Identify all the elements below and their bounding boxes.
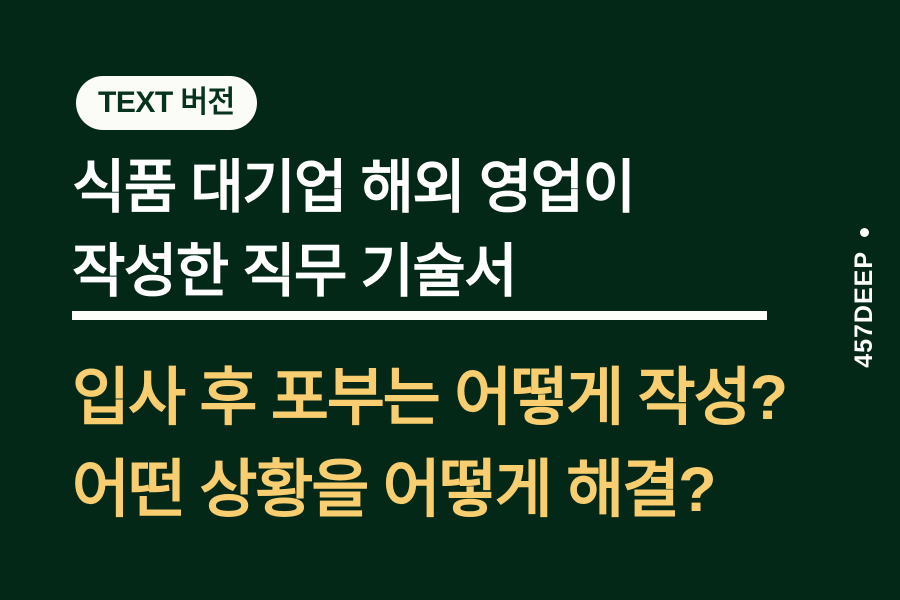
subtitle: 입사 후 포부는 어떻게 작성? 어떤 상황을 어떻게 해결? bbox=[72, 352, 862, 536]
badge-text-version: TEXT 버전 bbox=[76, 76, 257, 130]
bullet-dot-icon bbox=[860, 228, 869, 237]
badge-label: TEXT 버전 bbox=[98, 88, 235, 118]
subtitle-line-2: 어떤 상황을 어떻게 해결? bbox=[72, 444, 862, 536]
brand-label: 457DEEP bbox=[852, 251, 877, 368]
page-title: 식품 대기업 해외 영업이 작성한 직무 기술서 bbox=[72, 146, 832, 314]
heading-line-2: 작성한 직무 기술서 bbox=[72, 230, 832, 314]
subtitle-line-1: 입사 후 포부는 어떻게 작성? bbox=[72, 352, 862, 444]
brand-mark: 457DEEP bbox=[846, 228, 882, 368]
promo-card: TEXT 버전 식품 대기업 해외 영업이 작성한 직무 기술서 입사 후 포부… bbox=[0, 0, 900, 600]
divider bbox=[72, 311, 767, 320]
heading-line-1: 식품 대기업 해외 영업이 bbox=[72, 146, 832, 230]
